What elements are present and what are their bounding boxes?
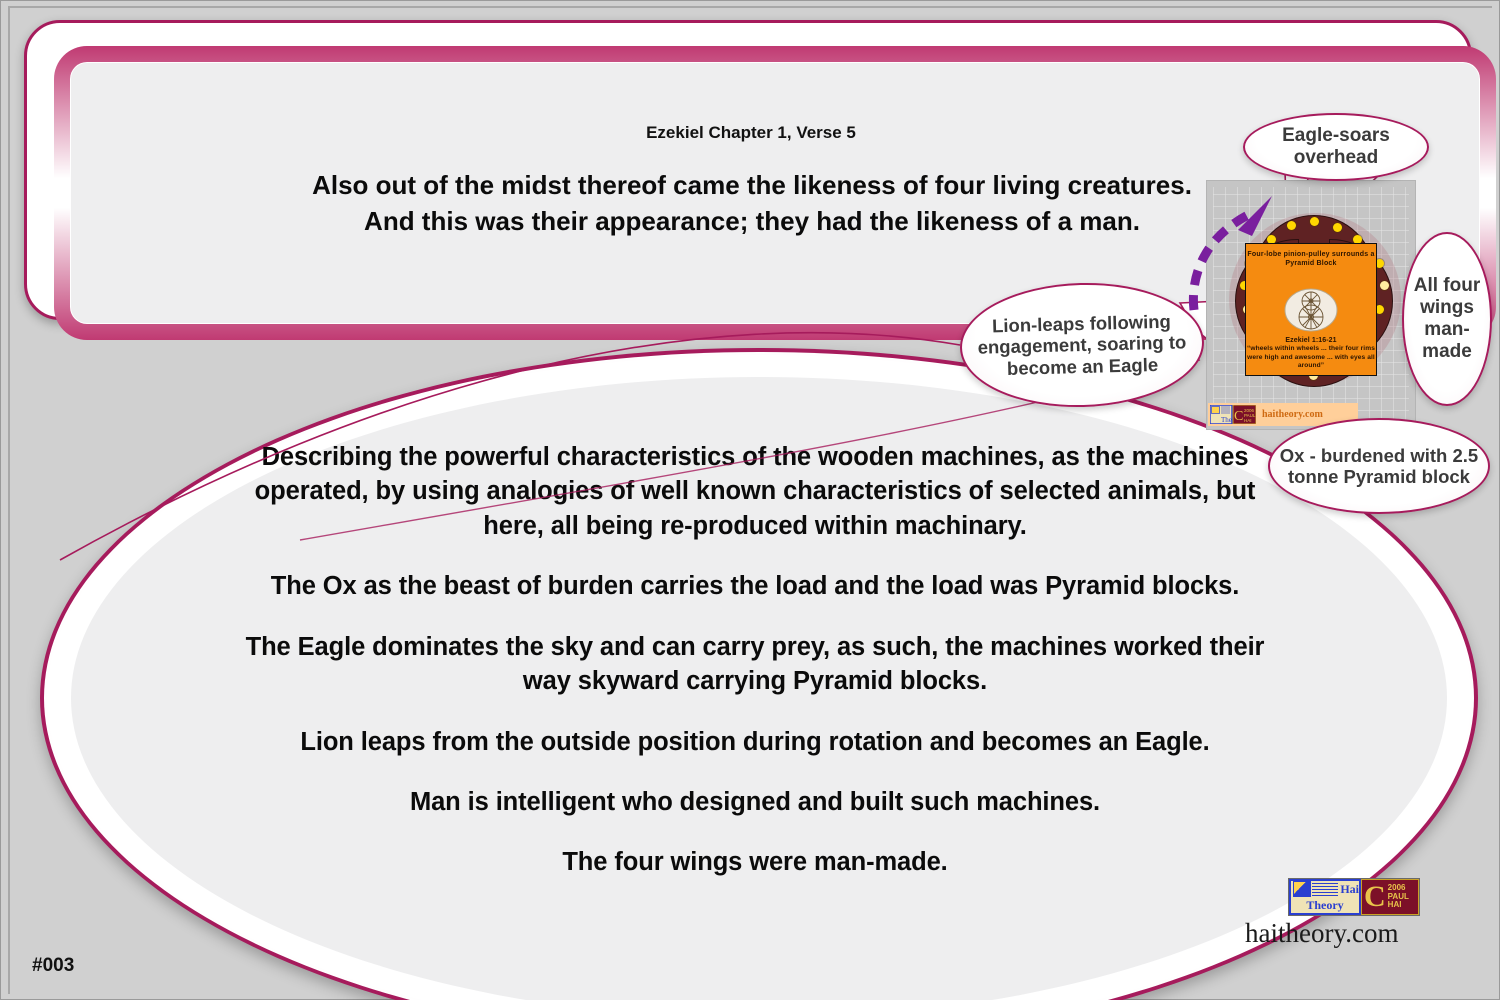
- wheels-within-wheels-icon: [1283, 288, 1339, 332]
- logo-top-row: Hai: [1291, 881, 1359, 897]
- rotation-arrow-icon: [1180, 188, 1290, 318]
- copyright-owner-2: HAI: [1388, 901, 1409, 910]
- diagram-strip-text: haitheory.com: [1262, 409, 1323, 420]
- logo-swatch-icon: [1293, 881, 1311, 897]
- callout-eagle-label: Eagle-soars overhead: [1245, 125, 1427, 169]
- block-reference: Ezekiel 1:16-21: [1246, 336, 1376, 345]
- copyright-symbol: C: [1364, 882, 1386, 912]
- callout-lion-label: Lion-leaps following engagement, soaring…: [961, 310, 1203, 380]
- logo-hai-label: Hai: [1340, 882, 1359, 897]
- logo-theory-label: Theory: [1306, 898, 1343, 913]
- callout-wings-label: All four wings man-made: [1404, 275, 1490, 362]
- block-quote: “wheels within wheels ... their four rim…: [1246, 345, 1376, 371]
- haitheory-logo: Hai Theory C 2006 PAUL HAI: [1288, 878, 1420, 916]
- logo-bottom-row: Theory: [1291, 897, 1359, 913]
- svg-text:C: C: [1234, 409, 1243, 424]
- logo-hai-theory-block: Hai Theory: [1289, 879, 1361, 915]
- callout-ox: Ox - burdened with 2.5 tonne Pyramid blo…: [1268, 418, 1490, 514]
- block-quote-group: Ezekiel 1:16-21 “wheels within wheels ..…: [1246, 336, 1376, 371]
- page-number: #003: [32, 955, 74, 977]
- logo-lines-icon: [1312, 883, 1338, 896]
- callout-eagle: Eagle-soars overhead: [1243, 113, 1429, 181]
- copyright-detail: 2006 PAUL HAI: [1388, 884, 1409, 910]
- svg-text:HAI: HAI: [1244, 418, 1252, 423]
- slide-canvas: Ezekiel Chapter 1, Verse 5 Also out of t…: [0, 0, 1500, 1000]
- callout-wings: All four wings man-made: [1402, 232, 1492, 406]
- copyright-badge: C 2006 PAUL HAI: [1361, 879, 1419, 915]
- eye-dot: [1333, 223, 1342, 232]
- callout-ox-label: Ox - burdened with 2.5 tonne Pyramid blo…: [1270, 445, 1488, 488]
- mini-logo-icon: Theory C 2006 PAUL HAI: [1210, 405, 1256, 424]
- site-url: haitheory.com: [1245, 918, 1445, 949]
- eye-dot: [1310, 217, 1319, 226]
- eye-dot: [1380, 281, 1389, 290]
